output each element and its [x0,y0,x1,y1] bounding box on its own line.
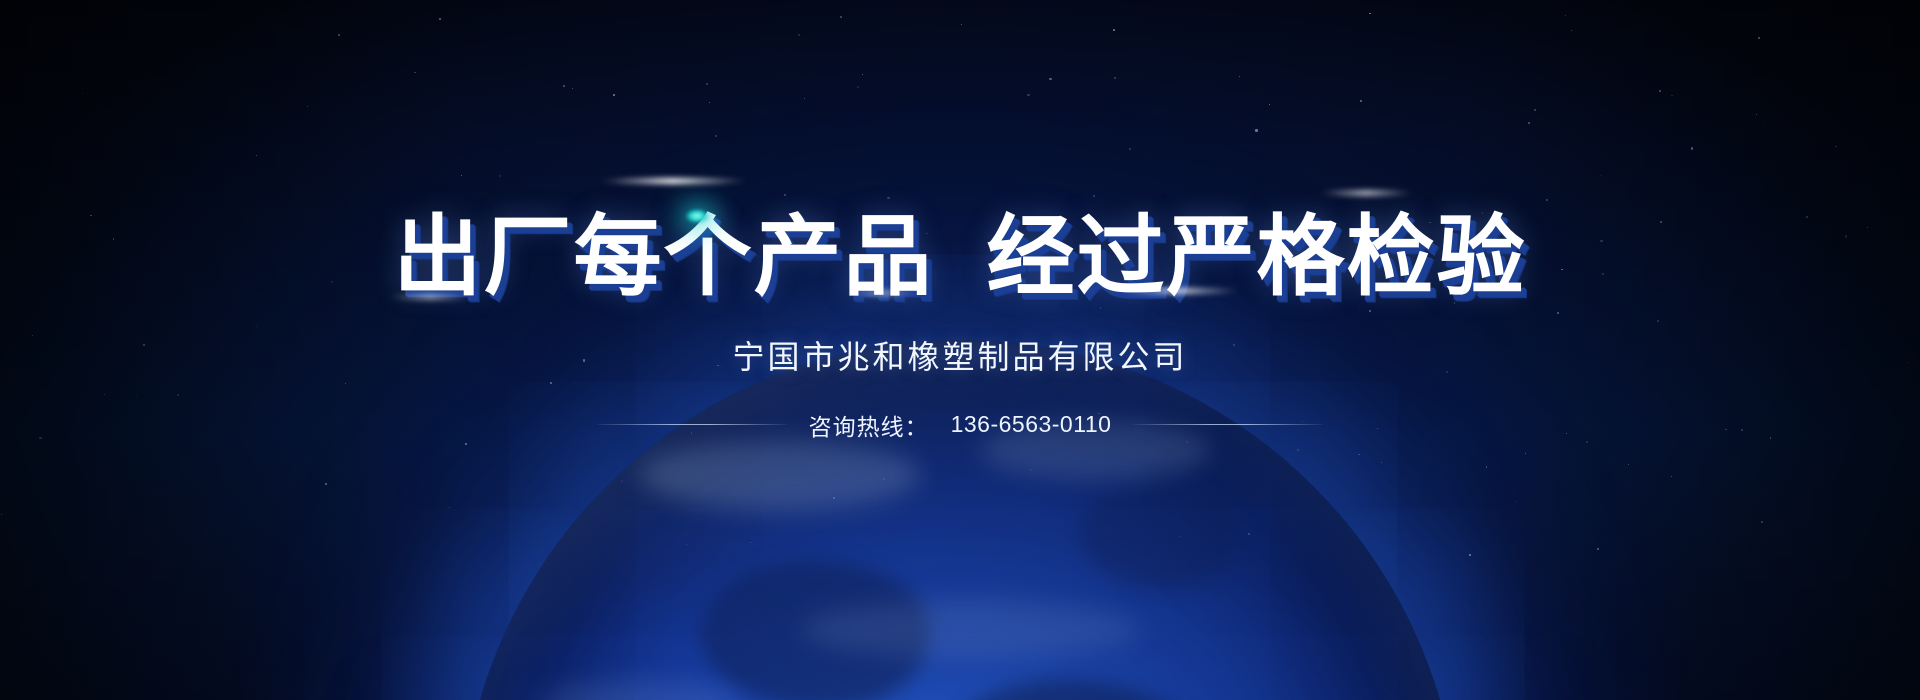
highlight-streak-4 [1318,190,1414,196]
highlight-streak-1 [598,178,748,184]
hotline-rule-right [1133,424,1323,425]
banner-content: 出厂每个产品 经过严格检验 宁国市兆和橡塑制品有限公司 咨询热线： 136-65… [0,0,1920,700]
hotline-number[interactable]: 136-6563-0110 [951,411,1112,438]
hotline-rule-left [597,424,787,425]
teal-spark-icon [684,208,710,224]
highlight-streak-5 [848,290,918,296]
promo-banner: 出厂每个产品 经过严格检验 宁国市兆和橡塑制品有限公司 咨询热线： 136-65… [0,0,1920,700]
highlight-streak-2 [1120,288,1240,294]
company-name: 宁国市兆和橡塑制品有限公司 [732,332,1187,378]
hotline-label: 咨询热线： [809,408,929,442]
hotline-row: 咨询热线： 136-6563-0110 [597,408,1324,442]
